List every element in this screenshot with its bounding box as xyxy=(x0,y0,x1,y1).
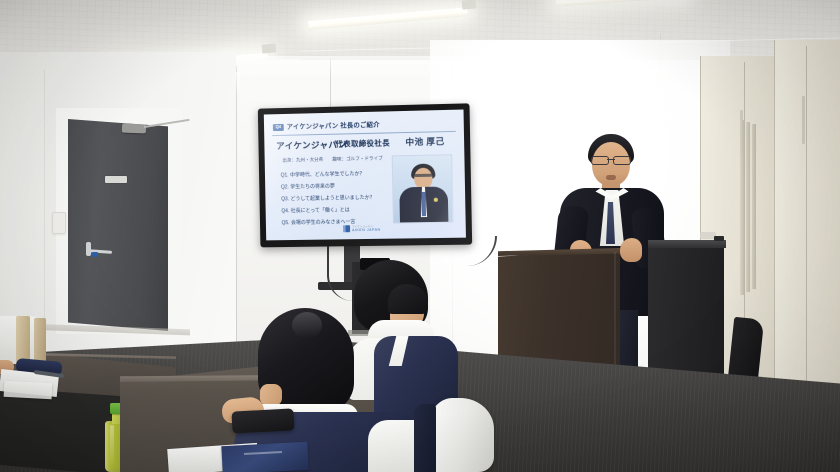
presenter-right-hand xyxy=(620,238,642,262)
display-screen: Q4 アイケンジャパン 社長のご紹介 アイケンジャパン 代表取締役社長 中池 厚… xyxy=(264,110,466,241)
seminar-photo: Q4 アイケンジャパン 社長のご紹介 アイケンジャパン 代表取締役社長 中池 厚… xyxy=(0,0,840,472)
presenter-mouth xyxy=(606,175,616,180)
door-closer xyxy=(122,124,146,134)
presenter-glasses xyxy=(591,156,631,163)
blue-booklet[interactable] xyxy=(221,442,308,472)
vertical-pipe xyxy=(746,122,750,292)
vertical-pipe xyxy=(740,120,744,295)
logo-text: AIKEN JAPAN xyxy=(352,228,381,232)
cabinet-handle[interactable] xyxy=(802,96,805,144)
wall-panel-joint xyxy=(236,66,237,346)
tea-bottle-highlight xyxy=(110,425,114,465)
wall-panel-joint xyxy=(44,70,45,320)
vertical-pipe xyxy=(752,124,756,289)
portrait-glasses xyxy=(414,174,432,177)
wooden-chair-slat xyxy=(34,318,46,362)
door[interactable] xyxy=(68,119,168,331)
portrait-tie xyxy=(422,192,426,216)
handout-paper[interactable] xyxy=(4,381,53,399)
logo-mark-icon xyxy=(343,225,350,232)
light-switch[interactable] xyxy=(52,212,66,234)
slide-question: Q3. どうして起業しようと思いましたか？ xyxy=(281,195,375,203)
slide-title-name: 中池 厚己 xyxy=(405,136,444,147)
slide-title-role: 代表取締役社長 xyxy=(335,138,390,149)
door-lock-indicator[interactable] xyxy=(92,252,98,257)
student-front-neck xyxy=(260,384,282,406)
equipment-cabinet-top xyxy=(648,240,726,248)
door-handle-base xyxy=(86,242,91,256)
student-front-hair-sheen xyxy=(292,312,322,338)
door-nameplate xyxy=(105,176,127,183)
slide-question: Q1. 中学時代、どんな学生でしたか？ xyxy=(281,171,365,179)
slide-subtitle: 出身：九州・大分県 趣味：ゴルフ・ドライブ xyxy=(282,156,382,164)
wooden-chair-slat xyxy=(16,316,30,362)
slide-header: アイケンジャパン 社長のご紹介 xyxy=(287,121,380,130)
cabinet-door-joint xyxy=(806,46,807,396)
ceiling-light-right-cap xyxy=(462,0,477,10)
slide-header-rule xyxy=(272,131,456,136)
slide-question: Q4. 社長にとって「働く」とは xyxy=(281,207,349,214)
white-chair-occupant-shoulder xyxy=(414,404,436,472)
slide-footer-logo: アイケンジャパン AIKEN JAPAN xyxy=(343,225,381,233)
slide-badge: Q4 xyxy=(273,124,284,131)
slide-portrait xyxy=(392,154,454,223)
storage-cabinet-near[interactable] xyxy=(774,40,840,400)
portrait-lapel-pin xyxy=(434,198,438,202)
equipment-item xyxy=(714,236,724,241)
ceiling-light-left-cap xyxy=(262,43,277,53)
presentation-slide: Q4 アイケンジャパン 社長のご紹介 アイケンジャパン 代表取締役社長 中池 厚… xyxy=(264,110,466,241)
pencil-case[interactable] xyxy=(231,408,294,433)
slide-question: Q2. 学生たちの将来の夢 xyxy=(281,184,335,191)
